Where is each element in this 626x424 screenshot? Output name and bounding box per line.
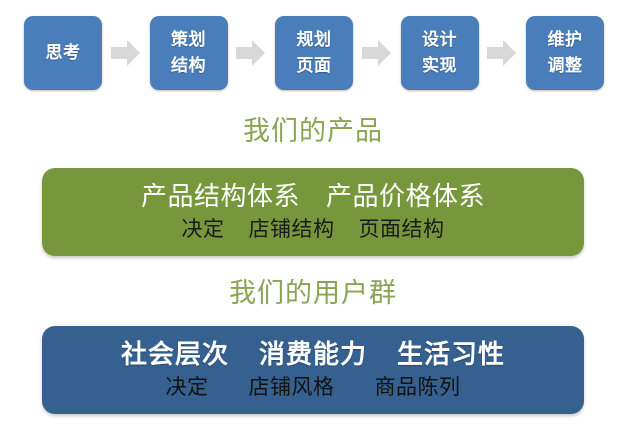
section-heading-users: 我们的用户群: [0, 280, 626, 307]
flow-step-5-line-2: 调整: [548, 53, 583, 79]
products-secondary-item-3: 页面结构: [359, 217, 445, 242]
products-secondary-item-1: 决定: [182, 217, 225, 242]
flow-step-4-line-1: 设计: [422, 27, 457, 53]
section-heading-products: 我们的产品: [0, 118, 626, 145]
products-secondary-item-2: 店铺结构: [249, 217, 335, 242]
flow-step-4[interactable]: 设计 实现: [401, 16, 479, 90]
flow-step-2-line-2: 结构: [171, 53, 206, 79]
arrow-shaft: [487, 47, 504, 59]
products-primary-item-1: 产品结构体系: [141, 182, 300, 213]
flow-step-2-line-1: 策划: [171, 27, 206, 53]
products-secondary-row: 决定 店铺结构 页面结构: [42, 217, 584, 242]
arrow-head: [127, 40, 140, 66]
users-primary-item-1: 社会层次: [121, 340, 229, 371]
users-primary-row: 社会层次 消费能力 生活习性: [42, 340, 584, 371]
products-primary-item-2: 产品价格体系: [326, 182, 485, 213]
right-arrow-icon-1: [111, 40, 141, 66]
flow-step-1[interactable]: 思考: [24, 16, 102, 90]
users-panel: 社会层次 消费能力 生活习性 决定 店铺风格 商品陈列: [42, 326, 584, 414]
right-arrow-icon-2: [236, 40, 266, 66]
arrow-head: [503, 40, 516, 66]
users-primary-item-2: 消费能力: [259, 340, 367, 371]
users-secondary-row: 决定 店铺风格 商品陈列: [42, 375, 584, 400]
users-secondary-item-3: 商品陈列: [375, 375, 461, 400]
products-primary-row: 产品结构体系 产品价格体系: [42, 182, 584, 213]
right-arrow-icon-4: [487, 40, 517, 66]
flow-step-4-line-2: 实现: [422, 53, 457, 79]
flow-step-2[interactable]: 策划 结构: [150, 16, 228, 90]
process-flow: 思考 策划 结构 规划 页面 设计 实现 维护 调整: [0, 0, 626, 106]
flow-step-1-line-1: 思考: [46, 44, 81, 63]
arrow-shaft: [236, 47, 253, 59]
right-arrow-icon-3: [362, 40, 392, 66]
flow-step-3-line-1: 规划: [297, 27, 332, 53]
users-secondary-item-1: 决定: [166, 375, 209, 400]
arrow-shaft: [111, 47, 128, 59]
flow-step-3[interactable]: 规划 页面: [275, 16, 353, 90]
flow-step-5-line-1: 维护: [548, 27, 583, 53]
arrow-head: [378, 40, 391, 66]
arrow-shaft: [362, 47, 379, 59]
flow-step-3-line-2: 页面: [297, 53, 332, 79]
products-panel: 产品结构体系 产品价格体系 决定 店铺结构 页面结构: [42, 168, 584, 256]
arrow-head: [252, 40, 265, 66]
flow-step-5[interactable]: 维护 调整: [526, 16, 604, 90]
users-secondary-item-2: 店铺风格: [249, 375, 335, 400]
users-primary-item-3: 生活习性: [397, 340, 505, 371]
